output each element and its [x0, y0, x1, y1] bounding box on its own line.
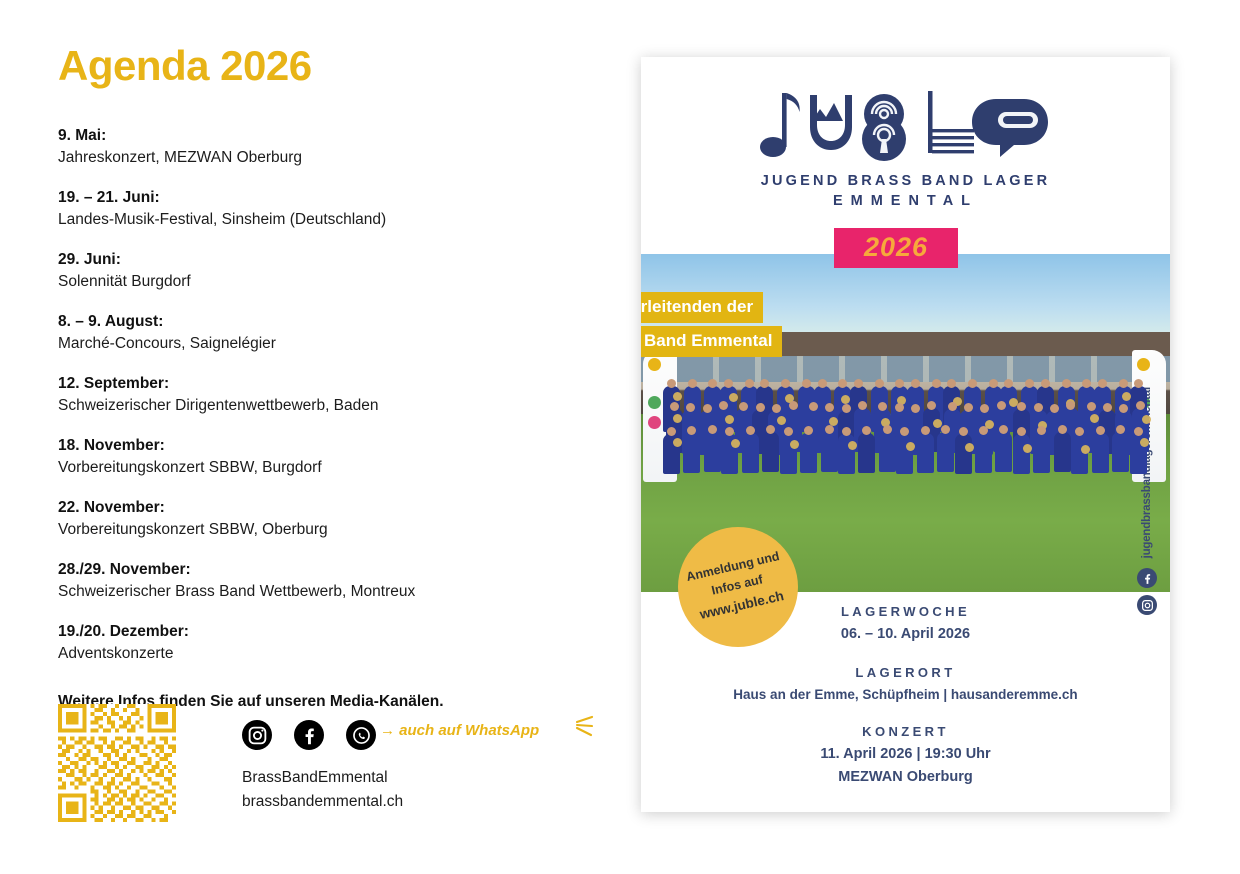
- brass-instrument: [1140, 438, 1149, 447]
- brass-instrument: [965, 443, 974, 452]
- photo-building-windows: [641, 356, 1170, 382]
- band-member: [742, 433, 759, 473]
- logo-line-2: EMMENTAL: [641, 193, 1170, 209]
- detail-value-secondary: MEZWAN Oberburg: [641, 766, 1170, 789]
- agenda-entry-description: Vorbereitungskonzert SBBW, Oberburg: [58, 519, 598, 541]
- agenda-entry-date: 22. November:: [58, 497, 598, 519]
- contact-handles: BrassBandEmmental brassbandemmental.ch: [242, 766, 403, 814]
- band-member: [800, 433, 817, 473]
- event-poster: JUGEND BRASS BAND LAGER EMMENTAL 2026 Mi…: [641, 57, 1170, 812]
- agenda-entry-date: 29. Juni:: [58, 249, 598, 271]
- band-member: [1092, 433, 1109, 473]
- brass-instrument: [790, 440, 799, 449]
- whatsapp-icon[interactable]: [346, 720, 376, 750]
- poster-details: LAGERWOCHE 06. – 10. April 2026 LAGERORT…: [641, 602, 1170, 807]
- brass-instrument: [729, 393, 738, 402]
- band-member: [995, 432, 1012, 472]
- agenda-entry: 18. November:Vorbereitungskonzert SBBW, …: [58, 435, 598, 480]
- page-title: Agenda 2026: [58, 45, 598, 87]
- detail-group-lagerort: LAGERORT Haus an der Emme, Schüpfheim | …: [641, 663, 1170, 705]
- detail-value: 11. April 2026 | 19:30 Uhr: [641, 743, 1170, 766]
- facebook-icon[interactable]: [1137, 568, 1157, 588]
- brass-instrument: [1090, 414, 1099, 423]
- social-handle: BrassBandEmmental: [242, 766, 403, 790]
- agenda-entry: 22. November:Vorbereitungskonzert SBBW, …: [58, 497, 598, 542]
- band-member: [975, 433, 992, 473]
- detail-label: LAGERWOCHE: [641, 602, 1170, 623]
- agenda-panel: Agenda 2026 9. Mai:Jahreskonzert, MEZWAN…: [58, 45, 598, 711]
- brass-instrument: [1122, 392, 1131, 401]
- agenda-entry-date: 28./29. November:: [58, 559, 598, 581]
- band-member: [1033, 433, 1050, 473]
- brass-instrument: [673, 414, 682, 423]
- agenda-entry-description: Adventskonzerte: [58, 643, 598, 665]
- agenda-entry-date: 19./20. Dezember:: [58, 621, 598, 643]
- instagram-icon[interactable]: [242, 720, 272, 750]
- band-member: [1112, 432, 1129, 472]
- brass-instrument: [673, 392, 682, 401]
- agenda-entry: 9. Mai:Jahreskonzert, MEZWAN Oberburg: [58, 125, 598, 170]
- agenda-entry-date: 8. – 9. August:: [58, 311, 598, 333]
- year-badge-text: 2026: [864, 233, 928, 261]
- detail-group-lagerwoche: LAGERWOCHE 06. – 10. April 2026: [641, 602, 1170, 646]
- emphasis-lines-icon: [570, 714, 596, 742]
- band-member: [955, 434, 972, 474]
- agenda-entry-description: Schweizerischer Brass Band Wettbewerb, M…: [58, 581, 598, 603]
- band-member: [704, 432, 721, 472]
- poster-logo: JUGEND BRASS BAND LAGER EMMENTAL: [641, 85, 1170, 209]
- flag-green-dot: [648, 396, 661, 409]
- facebook-icon[interactable]: [294, 720, 324, 750]
- instagram-icon[interactable]: [1137, 595, 1157, 615]
- brass-instrument: [1023, 444, 1032, 453]
- agenda-entry-date: 18. November:: [58, 435, 598, 457]
- band-member: [762, 432, 779, 472]
- agenda-entry-description: Solennität Burgdorf: [58, 271, 598, 293]
- agenda-entry-description: Schweizerischer Dirigentenwettbewerb, Ba…: [58, 395, 598, 417]
- contact-block: → auch auf WhatsApp BrassBandEmmental br…: [58, 700, 598, 830]
- overlay-banner-line-2: Brass Band Emmental: [641, 326, 782, 357]
- flag-pink-dot: [648, 416, 661, 429]
- agenda-entry: 29. Juni:Solennität Burgdorf: [58, 249, 598, 294]
- band-member: [937, 432, 954, 472]
- agenda-entry: 19. – 21. Juni:Landes-Musik-Festival, Si…: [58, 187, 598, 232]
- band-member: [821, 432, 838, 472]
- year-badge: 2026: [834, 228, 958, 268]
- band-member: [879, 432, 896, 472]
- band-member: [896, 434, 913, 474]
- agenda-entry: 19./20. Dezember:Adventskonzerte: [58, 621, 598, 666]
- agenda-entry-date: 12. September:: [58, 373, 598, 395]
- qr-code-svg: [58, 704, 176, 822]
- juble-wordmark-icon: [756, 85, 1056, 163]
- brass-instrument: [725, 415, 734, 424]
- overlay-banner-line-1: Mit Registerleitenden der: [641, 292, 763, 323]
- agenda-entry-description: Marché-Concours, Saignelégier: [58, 333, 598, 355]
- agenda-entry: 12. September:Schweizerischer Dirigenten…: [58, 373, 598, 418]
- band-member: [917, 433, 934, 473]
- band-member: [838, 434, 855, 474]
- qr-code[interactable]: [58, 704, 176, 822]
- brass-instrument: [848, 441, 857, 450]
- agenda-list: 9. Mai:Jahreskonzert, MEZWAN Oberburg19.…: [58, 125, 598, 665]
- agenda-entry-description: Landes-Musik-Festival, Sinsheim (Deutsch…: [58, 209, 598, 231]
- band-member: [683, 433, 700, 473]
- agenda-entry: 28./29. November:Schweizerischer Brass B…: [58, 559, 598, 604]
- flag-logo-dot: [1137, 358, 1150, 371]
- band-member: [1013, 434, 1030, 474]
- flag-logo-dot: [648, 358, 661, 371]
- detail-label: KONZERT: [641, 722, 1170, 743]
- band-members: [663, 382, 1149, 482]
- agenda-entry-date: 19. – 21. Juni:: [58, 187, 598, 209]
- band-member: [858, 433, 875, 473]
- band-member: [1071, 434, 1088, 474]
- poster-social-icons: [1137, 568, 1157, 615]
- logo-line-1: JUGEND BRASS BAND LAGER: [641, 173, 1170, 189]
- website-url[interactable]: brassbandemmental.ch: [242, 790, 403, 814]
- agenda-entry: 8. – 9. August:Marché-Concours, Saignelé…: [58, 311, 598, 356]
- band-member: [1054, 432, 1071, 472]
- whatsapp-note: → auch auf WhatsApp: [380, 722, 539, 739]
- detail-value: 06. – 10. April 2026: [641, 623, 1170, 646]
- detail-value: Haus an der Emme, Schüpfheim | hausander…: [641, 684, 1170, 706]
- agenda-entry-description: Vorbereitungskonzert SBBW, Burgdorf: [58, 457, 598, 479]
- agenda-entry-description: Jahreskonzert, MEZWAN Oberburg: [58, 147, 598, 169]
- brass-instrument: [1142, 415, 1151, 424]
- detail-group-konzert: KONZERT 11. April 2026 | 19:30 Uhr MEZWA…: [641, 722, 1170, 789]
- social-links: [242, 720, 376, 750]
- agenda-entry-date: 9. Mai:: [58, 125, 598, 147]
- detail-label: LAGERORT: [641, 663, 1170, 684]
- overlay-banner: Mit Registerleitenden der Brass Band Emm…: [641, 292, 800, 357]
- brass-instrument: [673, 438, 682, 447]
